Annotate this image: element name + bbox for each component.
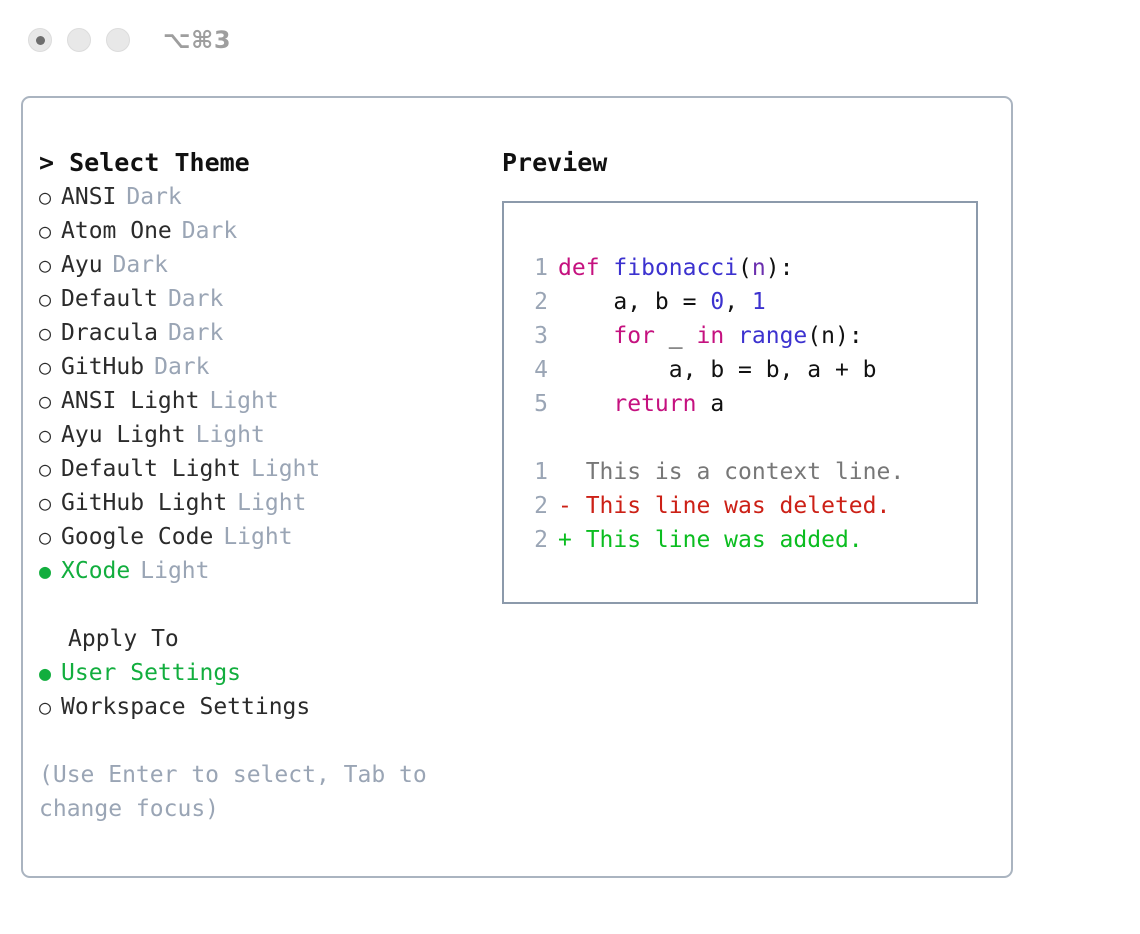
code-token-fn: fibonacci (613, 255, 738, 281)
theme-option-github-light[interactable]: ○GitHub LightLight (39, 486, 469, 520)
preview-panel: Preview 1def fibonacci(n):2 a, b = 0, 13… (502, 146, 982, 604)
preview-title: Preview (502, 146, 982, 180)
theme-option-ansi[interactable]: ○ANSIDark (39, 180, 469, 214)
theme-option-badge: Dark (113, 248, 168, 282)
apply-to-option-user-settings[interactable]: ●User Settings (39, 656, 469, 690)
main-card: > Select Theme ○ANSIDark○Atom OneDark○Ay… (21, 96, 1013, 878)
diff-line-content: - This line was deleted. (558, 489, 890, 523)
apply-to-heading: Apply To (39, 622, 469, 656)
theme-option-badge: Dark (126, 180, 181, 214)
code-token-kw: return (613, 391, 696, 417)
radio-unselected-icon: ○ (39, 214, 61, 248)
code-token-num: 1 (752, 289, 766, 315)
code-token-plain: (n): (807, 323, 862, 349)
code-token-plain: a (696, 391, 724, 417)
code-token-plain: ): (766, 255, 794, 281)
code-token-plain: a, b = (558, 289, 710, 315)
radio-unselected-icon: ○ (39, 384, 61, 418)
apply-to-option-workspace-settings[interactable]: ○Workspace Settings (39, 690, 469, 724)
code-line-content: def fibonacci(n): (558, 251, 793, 285)
radio-unselected-icon: ○ (39, 520, 61, 554)
theme-option-badge: Dark (168, 282, 223, 316)
diff-line-content: + This line was added. (558, 523, 863, 557)
radio-unselected-icon: ○ (39, 418, 61, 452)
code-line: 1def fibonacci(n): (518, 251, 976, 285)
code-token-fn: range (738, 323, 807, 349)
code-line-number: 1 (518, 251, 548, 285)
preview-box: 1def fibonacci(n):2 a, b = 0, 13 for _ i… (502, 201, 978, 604)
theme-option-label: GitHub (61, 350, 144, 384)
theme-option-ayu-light[interactable]: ○Ayu LightLight (39, 418, 469, 452)
code-line-number: 4 (518, 353, 548, 387)
theme-option-badge: Dark (154, 350, 209, 384)
radio-unselected-icon: ○ (39, 350, 61, 384)
code-token-plain (558, 323, 613, 349)
code-line-number: 3 (518, 319, 548, 353)
radio-unselected-icon: ○ (39, 452, 61, 486)
code-line-number: 2 (518, 285, 548, 319)
theme-option-label: Default Light (61, 452, 241, 486)
theme-option-badge: Dark (182, 214, 237, 248)
code-token-plain: a, b = b, a + b (558, 357, 877, 383)
apply-to-option-label: Workspace Settings (61, 690, 310, 724)
window-controls (28, 28, 130, 52)
theme-option-dracula[interactable]: ○DraculaDark (39, 316, 469, 350)
window-dot-active[interactable] (28, 28, 52, 52)
diff-line-number: 1 (518, 455, 548, 489)
code-line: 3 for _ in range(n): (518, 319, 976, 353)
theme-option-github[interactable]: ○GitHubDark (39, 350, 469, 384)
code-token-kw: def (558, 255, 600, 281)
code-token-plain: , (724, 289, 752, 315)
radio-unselected-icon: ○ (39, 248, 61, 282)
theme-option-default[interactable]: ○DefaultDark (39, 282, 469, 316)
code-line-content: return a (558, 387, 724, 421)
theme-option-label: XCode (61, 554, 130, 588)
theme-option-badge: Light (209, 384, 278, 418)
diff-sample: 1 This is a context line.2- This line wa… (518, 455, 976, 557)
theme-option-label: Ayu Light (61, 418, 186, 452)
window-dot-second[interactable] (67, 28, 91, 52)
code-token-kw: for (613, 323, 655, 349)
theme-option-label: Default (61, 282, 158, 316)
code-token-plain (558, 391, 613, 417)
diff-line-ctx: 1 This is a context line. (518, 455, 976, 489)
diff-line-content: This is a context line. (558, 455, 904, 489)
app-window: ⌥⌘3 > Select Theme ○ANSIDark○Atom OneDar… (0, 0, 1140, 934)
window-dot-active-inner (36, 36, 45, 45)
radio-unselected-icon: ○ (39, 180, 61, 214)
theme-option-badge: Dark (168, 316, 223, 350)
code-token-kw: in (696, 323, 724, 349)
diff-line-add: 2+ This line was added. (518, 523, 976, 557)
window-dot-third[interactable] (106, 28, 130, 52)
theme-option-badge: Light (251, 452, 320, 486)
diff-line-number: 2 (518, 523, 548, 557)
code-line-content: a, b = 0, 1 (558, 285, 766, 319)
theme-option-badge: Light (223, 520, 292, 554)
keyboard-shortcut-label: ⌥⌘3 (163, 26, 231, 54)
theme-option-label: Dracula (61, 316, 158, 350)
code-line: 4 a, b = b, a + b (518, 353, 976, 387)
theme-option-label: GitHub Light (61, 486, 227, 520)
theme-option-badge: Light (237, 486, 306, 520)
theme-option-ayu[interactable]: ○AyuDark (39, 248, 469, 282)
code-line-content: a, b = b, a + b (558, 353, 877, 387)
radio-unselected-icon: ○ (39, 690, 61, 724)
radio-unselected-icon: ○ (39, 486, 61, 520)
theme-list: ○ANSIDark○Atom OneDark○AyuDark○DefaultDa… (39, 180, 469, 588)
code-line: 5 return a (518, 387, 976, 421)
code-diff-spacer (518, 421, 976, 455)
code-token-var: n (752, 255, 766, 281)
radio-unselected-icon: ○ (39, 316, 61, 350)
theme-option-badge: Light (140, 554, 209, 588)
radio-unselected-icon: ○ (39, 282, 61, 316)
titlebar: ⌥⌘3 (0, 0, 1140, 80)
panel-title-select-theme: > Select Theme (39, 146, 469, 180)
code-line-number: 5 (518, 387, 548, 421)
radio-selected-icon: ● (39, 554, 61, 588)
theme-option-label: ANSI (61, 180, 116, 214)
theme-option-google-code[interactable]: ○Google CodeLight (39, 520, 469, 554)
theme-option-ansi-light[interactable]: ○ANSI LightLight (39, 384, 469, 418)
diff-line-number: 2 (518, 489, 548, 523)
theme-option-xcode[interactable]: ●XCodeLight (39, 554, 469, 588)
radio-selected-icon: ● (39, 656, 61, 690)
theme-option-label: ANSI Light (61, 384, 199, 418)
apply-to-option-label: User Settings (61, 656, 241, 690)
code-token-num: 0 (710, 289, 724, 315)
code-line: 2 a, b = 0, 1 (518, 285, 976, 319)
theme-selector-panel: > Select Theme ○ANSIDark○Atom OneDark○Ay… (39, 146, 469, 826)
diff-line-del: 2- This line was deleted. (518, 489, 976, 523)
code-line-content: for _ in range(n): (558, 319, 863, 353)
theme-option-label: Atom One (61, 214, 172, 248)
theme-option-label: Ayu (61, 248, 103, 282)
apply-to-list: ●User Settings○Workspace Settings (39, 656, 469, 724)
theme-option-badge: Light (196, 418, 265, 452)
keyboard-hint: (Use Enter to select, Tab to change focu… (39, 758, 439, 826)
section-spacer (39, 588, 469, 622)
code-token-plain (600, 255, 614, 281)
theme-option-label: Google Code (61, 520, 213, 554)
code-token-plain: _ (655, 323, 697, 349)
code-sample: 1def fibonacci(n):2 a, b = 0, 13 for _ i… (518, 251, 976, 421)
code-token-plain (724, 323, 738, 349)
code-token-plain: ( (738, 255, 752, 281)
theme-option-default-light[interactable]: ○Default LightLight (39, 452, 469, 486)
theme-option-atom-one[interactable]: ○Atom OneDark (39, 214, 469, 248)
